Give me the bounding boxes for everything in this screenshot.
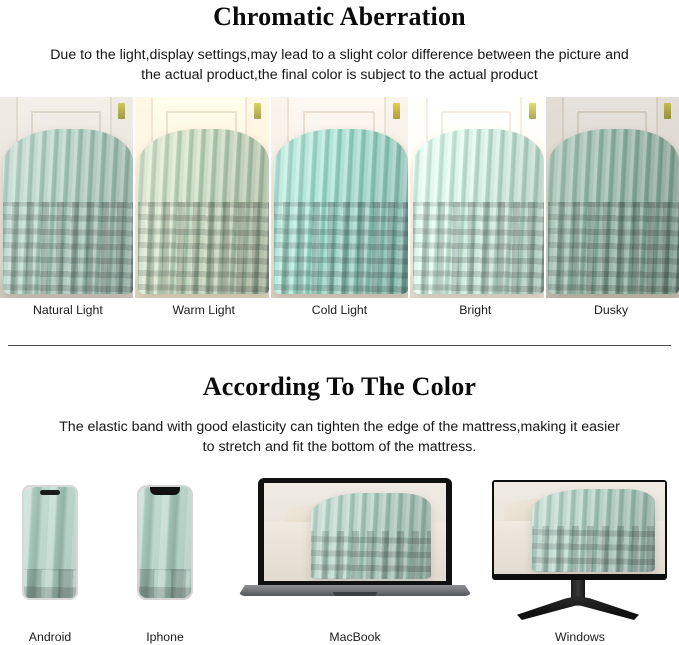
section-divider bbox=[0, 345, 679, 346]
notch-icon bbox=[150, 487, 180, 495]
lighting-captions-row: Natural Light Warm Light Cold Light Brig… bbox=[0, 303, 679, 317]
lighting-panel-natural-light bbox=[0, 97, 133, 298]
section1-subtitle-line2: the actual product,the final color is su… bbox=[141, 67, 538, 83]
device-caption-windows: Windows bbox=[510, 630, 650, 644]
section1-title: Chromatic Aberration bbox=[0, 2, 679, 32]
lighting-panel-cold-light bbox=[271, 97, 408, 298]
caption-warm-light: Warm Light bbox=[136, 303, 272, 317]
caption-dusky: Dusky bbox=[543, 303, 679, 317]
caption-cold-light: Cold Light bbox=[272, 303, 408, 317]
section2-subtitle-line1: The elastic band with good elasticity ca… bbox=[59, 419, 620, 435]
price-tag-icon bbox=[254, 103, 261, 119]
product-detail-page: Chromatic Aberration Due to the light,di… bbox=[0, 0, 679, 645]
section-according-to-the-color: According To The Color The elastic band … bbox=[0, 372, 679, 457]
caption-bright: Bright bbox=[407, 303, 543, 317]
lighting-panel-dusky bbox=[546, 97, 679, 298]
camera-pill-icon bbox=[40, 490, 60, 495]
section-chromatic-aberration: Chromatic Aberration Due to the light,di… bbox=[0, 2, 679, 85]
trackpad-notch-icon bbox=[333, 592, 377, 596]
device-caption-macbook: MacBook bbox=[285, 630, 425, 644]
device-preview-row: Android Iphone bbox=[0, 470, 679, 645]
laptop-base bbox=[238, 585, 472, 596]
section2-title: According To The Color bbox=[0, 372, 679, 402]
device-caption-iphone: Iphone bbox=[115, 630, 215, 644]
blanket-image bbox=[3, 129, 134, 294]
lighting-panel-bright bbox=[410, 97, 543, 298]
device-caption-android: Android bbox=[0, 630, 100, 644]
lighting-comparison-strip bbox=[0, 97, 679, 298]
price-tag-icon bbox=[118, 103, 125, 119]
price-tag-icon bbox=[393, 103, 400, 119]
section1-subtitle-line1: Due to the light,display settings,may le… bbox=[50, 47, 629, 63]
price-tag-icon bbox=[664, 103, 671, 119]
price-tag-icon bbox=[529, 103, 536, 119]
caption-natural-light: Natural Light bbox=[0, 303, 136, 317]
section2-subtitle-line2: to stretch and fit the bottom of the mat… bbox=[203, 439, 477, 455]
lighting-panel-warm-light bbox=[135, 97, 268, 298]
monitor-base bbox=[517, 596, 639, 620]
